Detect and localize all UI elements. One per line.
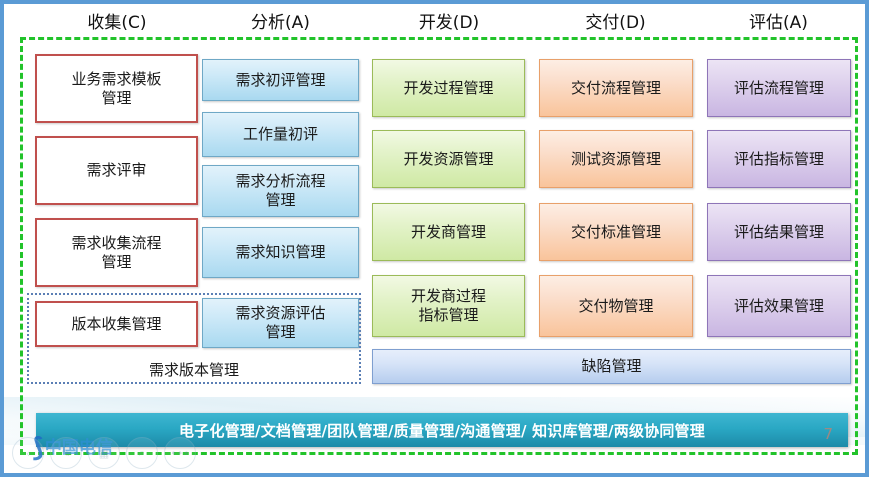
capability-box-requirement-analysis-process[interactable]: 需求分析流程 管理 xyxy=(202,165,359,217)
capability-box-requirement-review[interactable]: 需求评审 xyxy=(35,136,198,205)
capability-box-requirement-collection-process[interactable]: 需求收集流程 管理 xyxy=(35,218,198,287)
capability-box-evaluation-effect[interactable]: 评估效果管理 xyxy=(707,275,851,337)
column-header-collect: 收集(C) xyxy=(35,11,199,35)
capability-box-development-resource[interactable]: 开发资源管理 xyxy=(372,130,525,188)
grid-icon[interactable]: ▦ xyxy=(88,437,120,469)
capability-box-delivery-process[interactable]: 交付流程管理 xyxy=(539,59,693,117)
edit-icon[interactable]: ✎ xyxy=(50,437,82,469)
page-number: 7 xyxy=(823,425,833,443)
column-headers: 收集(C) 分析(A) 开发(D) 交付(D) 评估(A) xyxy=(4,11,869,39)
capability-box-deliverable-management[interactable]: 交付物管理 xyxy=(539,275,693,337)
column-header-analysis: 分析(A) xyxy=(202,11,359,35)
capability-box-requirement-knowledge[interactable]: 需求知识管理 xyxy=(202,227,359,278)
slide-nav-toolbar[interactable]: ‹ ✎ ▦ ⌕ ••• xyxy=(12,437,196,469)
capability-box-evaluation-process[interactable]: 评估流程管理 xyxy=(707,59,851,117)
capability-box-development-process[interactable]: 开发过程管理 xyxy=(372,59,525,117)
version-management-group-label: 需求版本管理 xyxy=(29,360,359,380)
zoom-icon[interactable]: ⌕ xyxy=(126,437,158,469)
capability-box-vendor-process-metrics[interactable]: 开发商过程 指标管理 xyxy=(372,275,525,337)
capability-box-vendor-management[interactable]: 开发商管理 xyxy=(372,203,525,261)
capability-box-evaluation-result[interactable]: 评估结果管理 xyxy=(707,203,851,261)
capability-box-evaluation-metrics[interactable]: 评估指标管理 xyxy=(707,130,851,188)
back-icon[interactable]: ‹ xyxy=(12,437,44,469)
more-icon[interactable]: ••• xyxy=(164,437,196,469)
capability-box-requirement-initial-review[interactable]: 需求初评管理 xyxy=(202,59,359,101)
version-management-group: 需求版本管理 xyxy=(27,293,361,384)
column-header-delivery: 交付(D) xyxy=(538,11,693,35)
capability-box-test-resource[interactable]: 测试资源管理 xyxy=(539,130,693,188)
column-header-development: 开发(D) xyxy=(372,11,526,35)
capability-bar-defect-management[interactable]: 缺陷管理 xyxy=(372,349,851,384)
column-header-evaluation: 评估(A) xyxy=(705,11,852,35)
capability-box-business-requirement-template[interactable]: 业务需求模板 管理 xyxy=(35,54,198,123)
capability-box-workload-initial-estimate[interactable]: 工作量初评 xyxy=(202,112,359,157)
capability-box-delivery-standard[interactable]: 交付标准管理 xyxy=(539,203,693,261)
slide-canvas: 收集(C) 分析(A) 开发(D) 交付(D) 评估(A) 业务需求模板 管理 … xyxy=(0,0,869,477)
